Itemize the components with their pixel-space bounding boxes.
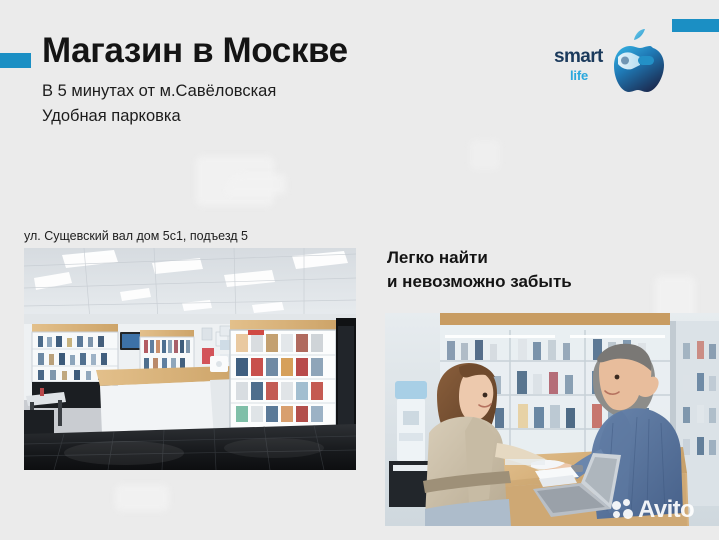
- header-subtitle: В 5 минутах от м.Савёловская Удобная пар…: [42, 79, 522, 129]
- logo-wordmark: smart life: [554, 47, 603, 82]
- accent-bar-left: [0, 53, 31, 68]
- logo-text-life: life: [570, 69, 603, 82]
- headline-line-2: и невозможно забыть: [387, 270, 572, 294]
- background-watermark-ghost: [226, 174, 286, 194]
- background-watermark-ghost: [115, 485, 169, 511]
- slide-canvas: Магазин в Москве В 5 минутах от м.Савёло…: [0, 0, 719, 540]
- headline-line-1: Легко найти: [387, 246, 572, 270]
- accent-bar-right: [672, 19, 719, 32]
- subtitle-line-2: Удобная парковка: [42, 104, 522, 129]
- customer-at-counter-photo: [385, 313, 719, 526]
- avito-wordmark: Avito: [638, 498, 694, 522]
- header: Магазин в Москве В 5 минутах от м.Савёло…: [42, 33, 522, 129]
- logo-text-smart: smart: [554, 47, 603, 66]
- subtitle-line-1: В 5 минутах от м.Савёловская: [42, 79, 522, 104]
- section-headline: Легко найти и невозможно забыть: [387, 246, 572, 294]
- avito-dots-icon: [612, 499, 634, 521]
- store-address-caption: ул. Сущевский вал дом 5с1, подъезд 5: [24, 229, 248, 243]
- brand-logo: smart life: [552, 26, 672, 98]
- apple-logo-icon: [612, 26, 670, 96]
- background-watermark-ghost: [470, 140, 500, 170]
- page-title: Магазин в Москве: [42, 33, 522, 70]
- store-interior-photo: [24, 248, 356, 470]
- avito-watermark: Avito: [612, 498, 694, 522]
